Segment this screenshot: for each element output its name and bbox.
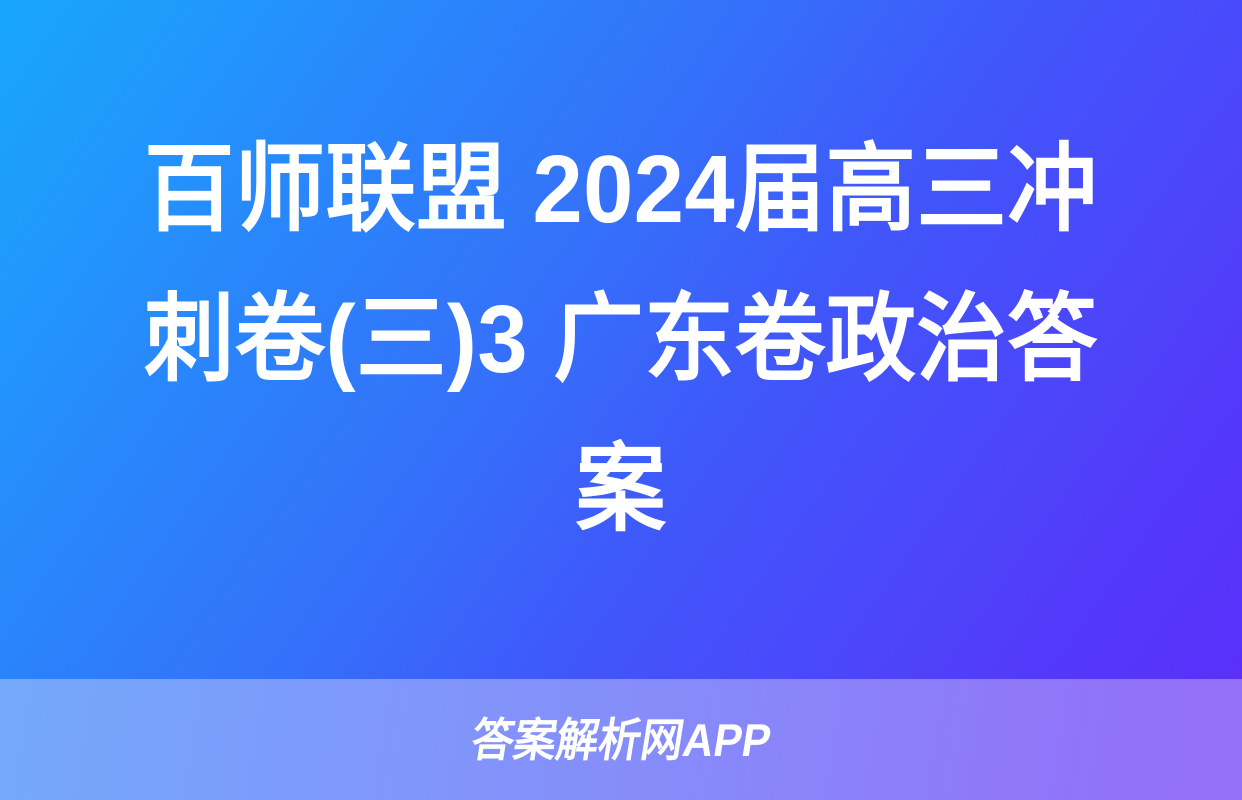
poster-hero: 百师联盟 2024届高三冲刺卷(三)3 广东卷政治答案: [0, 0, 1242, 679]
brand-watermark-label: 答案解析网APP: [468, 715, 775, 765]
brand-footer-band: 答案解析网APP: [0, 679, 1242, 800]
poster-canvas: 百师联盟 2024届高三冲刺卷(三)3 广东卷政治答案 答案解析网APP: [0, 0, 1242, 800]
page-title: 百师联盟 2024届高三冲刺卷(三)3 广东卷政治答案: [111, 115, 1132, 565]
